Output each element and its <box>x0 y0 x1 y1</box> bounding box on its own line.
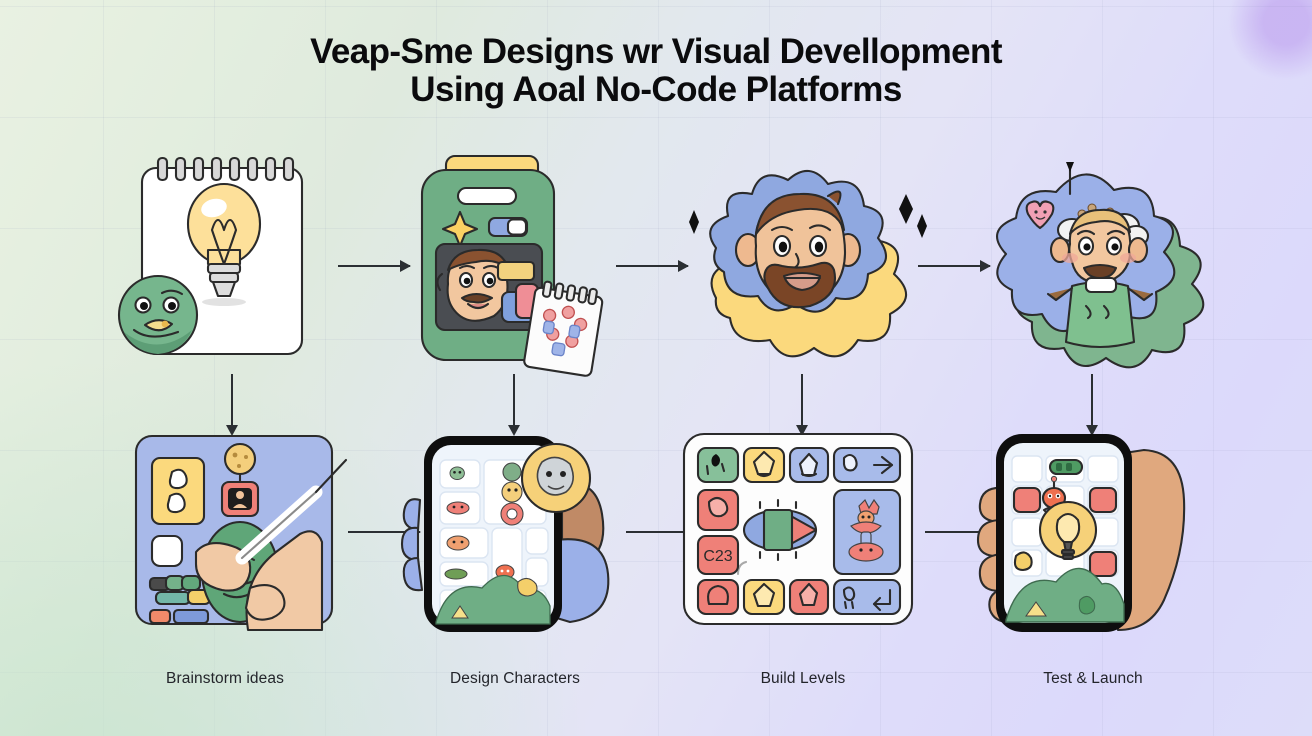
toggle-icon <box>489 218 527 236</box>
lightbulb-icon <box>1040 502 1096 559</box>
eraser-tool-icon <box>152 536 182 566</box>
tile-red-icon <box>698 580 738 614</box>
caption-step-1: Brainstorm ideas <box>100 670 350 688</box>
caption-step-3: Build Levels <box>678 670 928 688</box>
sparkle-icon <box>917 214 927 238</box>
coin-icon <box>225 444 255 474</box>
step-3-bottom-illustration: C23 <box>678 430 928 645</box>
step-4-bottom-illustration <box>968 430 1218 645</box>
hand-icon <box>404 499 420 530</box>
tile-wide-blue-bottom-icon <box>834 580 900 614</box>
red-tile-icon <box>1090 488 1116 512</box>
step-4-top-illustration <box>968 152 1218 367</box>
step-3-top-illustration <box>678 152 928 367</box>
step-2-bottom-illustration <box>390 430 640 645</box>
step-1-top-illustration <box>100 152 350 367</box>
sketch-notepad-icon <box>523 280 604 377</box>
tile-green-icon <box>698 448 738 482</box>
arrow-down-step3 <box>801 374 803 426</box>
avatar-badge-icon <box>522 444 590 512</box>
tile-character-preview <box>834 490 900 574</box>
tile-red-icon <box>790 580 828 614</box>
sparkle-icon <box>899 194 913 224</box>
arrow-down-step1 <box>231 374 233 426</box>
tile-yellow-icon <box>744 580 784 614</box>
tile-code-icon: C23 <box>698 536 738 574</box>
caption-step-4: Test & Launch <box>968 670 1218 688</box>
workflow-diagram: C23 <box>0 0 1312 736</box>
caption-step-2: Design Characters <box>390 670 640 688</box>
red-tile-icon <box>1014 488 1040 512</box>
arrow-down-step4 <box>1091 374 1093 426</box>
red-tile-icon <box>1090 552 1116 576</box>
coin-icon <box>1015 552 1032 570</box>
palette-panel-icon <box>152 458 204 524</box>
power-item-icon <box>1050 460 1082 474</box>
step-2-top-illustration <box>390 152 640 367</box>
tile-red-icon <box>698 490 738 530</box>
step-1-bottom-illustration <box>100 430 350 645</box>
avatar-tile-icon <box>222 482 258 516</box>
green-character-icon <box>119 276 197 354</box>
color-swatch-icon <box>150 576 210 623</box>
tile-code-label: C23 <box>703 548 732 565</box>
tile-wide-blue-icon <box>834 448 900 482</box>
tile-yellow-icon <box>744 448 784 482</box>
sparkle-icon <box>689 210 699 234</box>
tile-blue-icon <box>790 448 828 482</box>
